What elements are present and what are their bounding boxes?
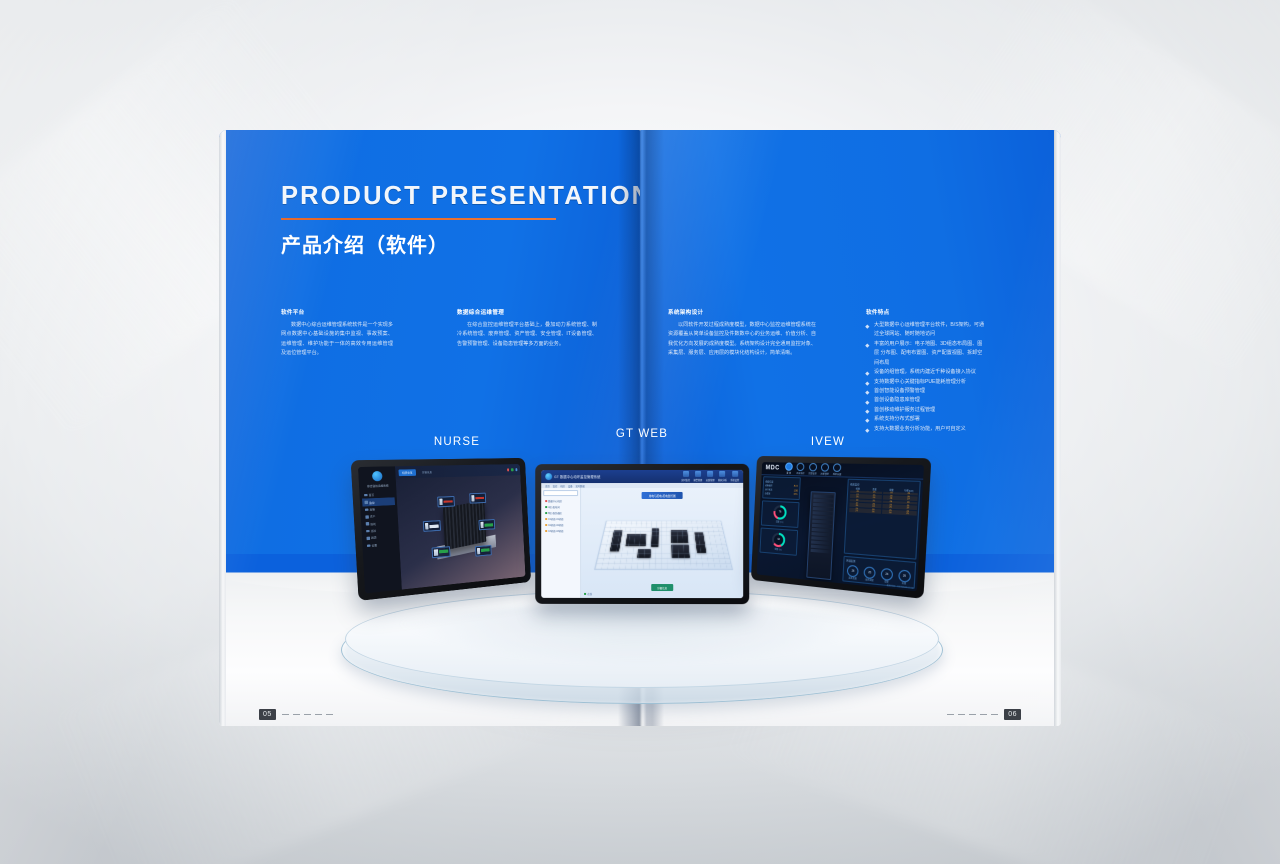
footer-right: 06 [947,709,1021,720]
column-software-features: 软件特点 大型数据中心运维管理平台软件，B/S架构，可通过全球网站、随时随地访问… [866,308,986,434]
footer-dashes [947,714,998,715]
heading-rule [281,218,556,220]
column-software-platform: 软件平台 数据中心综合运维管理系统软件是一个实现多网点数据中心基础设施的集中监视… [281,308,393,359]
column-title: 软件平台 [281,308,393,316]
column-data-ops: 数据综合运维管理 在综合监控运维管理平台基础上，叠加动力系统管理、制冷系统管理、… [457,308,597,349]
heading-english: PRODUCT PRESENTATION [281,182,611,211]
feature-item: 首创移动维护服务过程管理 [866,406,986,415]
feature-item: 首创智能设备预警管理 [866,387,986,396]
heading-chinese: 产品介绍（软件） [281,229,611,258]
feature-item: 首创设备隐患库管理 [866,396,986,405]
left-page-white-field [219,572,640,726]
feature-list: 大型数据中心运维管理平台软件，B/S架构，可通过全球网站、随时随地访问丰富的用户… [866,321,986,434]
feature-item: 设备的组管理，系统内建近千种设备接入协议 [866,368,986,377]
brochure-left-page: PRODUCT PRESENTATION 产品介绍（软件） 软件平台 数据中心综… [219,130,640,726]
right-page-white-field [640,572,1061,726]
column-body: 以同软件开发过程成熟度模型，数据中心监控运维管理系统在资源覆盖从简单设备监控及件… [668,321,816,359]
column-title: 软件特点 [866,308,986,316]
feature-item: 丰富的用户展示：电子地图、3D组态布局图、图层 分布图、配电布置图、资产配置视图… [866,340,986,368]
footer-left: 05 [259,709,333,720]
page-number-right: 06 [1004,709,1021,720]
column-system-architecture: 系统架构设计 以同软件开发过程成熟度模型，数据中心监控运维管理系统在资源覆盖从简… [668,308,816,359]
feature-item: 系统支持分布式部署 [866,415,986,424]
left-text-columns: 软件平台 数据中心综合运维管理系统软件是一个实现多网点数据中心基础设施的集中监视… [219,308,640,438]
paper-edge-left [219,130,226,726]
footer-dashes [282,714,333,715]
open-brochure: PRODUCT PRESENTATION 产品介绍（软件） 软件平台 数据中心综… [219,130,1061,742]
column-title: 系统架构设计 [668,308,816,316]
feature-item: 大型数据中心运维管理平台软件，B/S架构，可通过全球网站、随时随地访问 [866,321,986,340]
feature-item: 支持大数据业务分析功能，用户可自定义 [866,425,986,434]
column-body: 数据中心综合运维管理系统软件是一个实现多网点数据中心基础设施的集中监视、事故预案… [281,321,393,359]
feature-item: 支持数据中心关键指标PUE能耗管理分析 [866,378,986,387]
page-heading: PRODUCT PRESENTATION 产品介绍（软件） [281,182,611,258]
column-body: 在综合监控运维管理平台基础上，叠加动力系统管理、制冷系统管理、废弃管理、资产管理… [457,321,597,349]
paper-edge-right [1054,130,1061,726]
page-number-left: 05 [259,709,276,720]
right-text-columns: 系统架构设计 以同软件开发过程成熟度模型，数据中心监控运维管理系统在资源覆盖从简… [640,308,1061,438]
brochure-right-page: 系统架构设计 以同软件开发过程成熟度模型，数据中心监控运维管理系统在资源覆盖从简… [640,130,1061,726]
brochure-mockup: PRODUCT PRESENTATION 产品介绍（软件） 软件平台 数据中心综… [0,0,1280,864]
column-title: 数据综合运维管理 [457,308,597,316]
